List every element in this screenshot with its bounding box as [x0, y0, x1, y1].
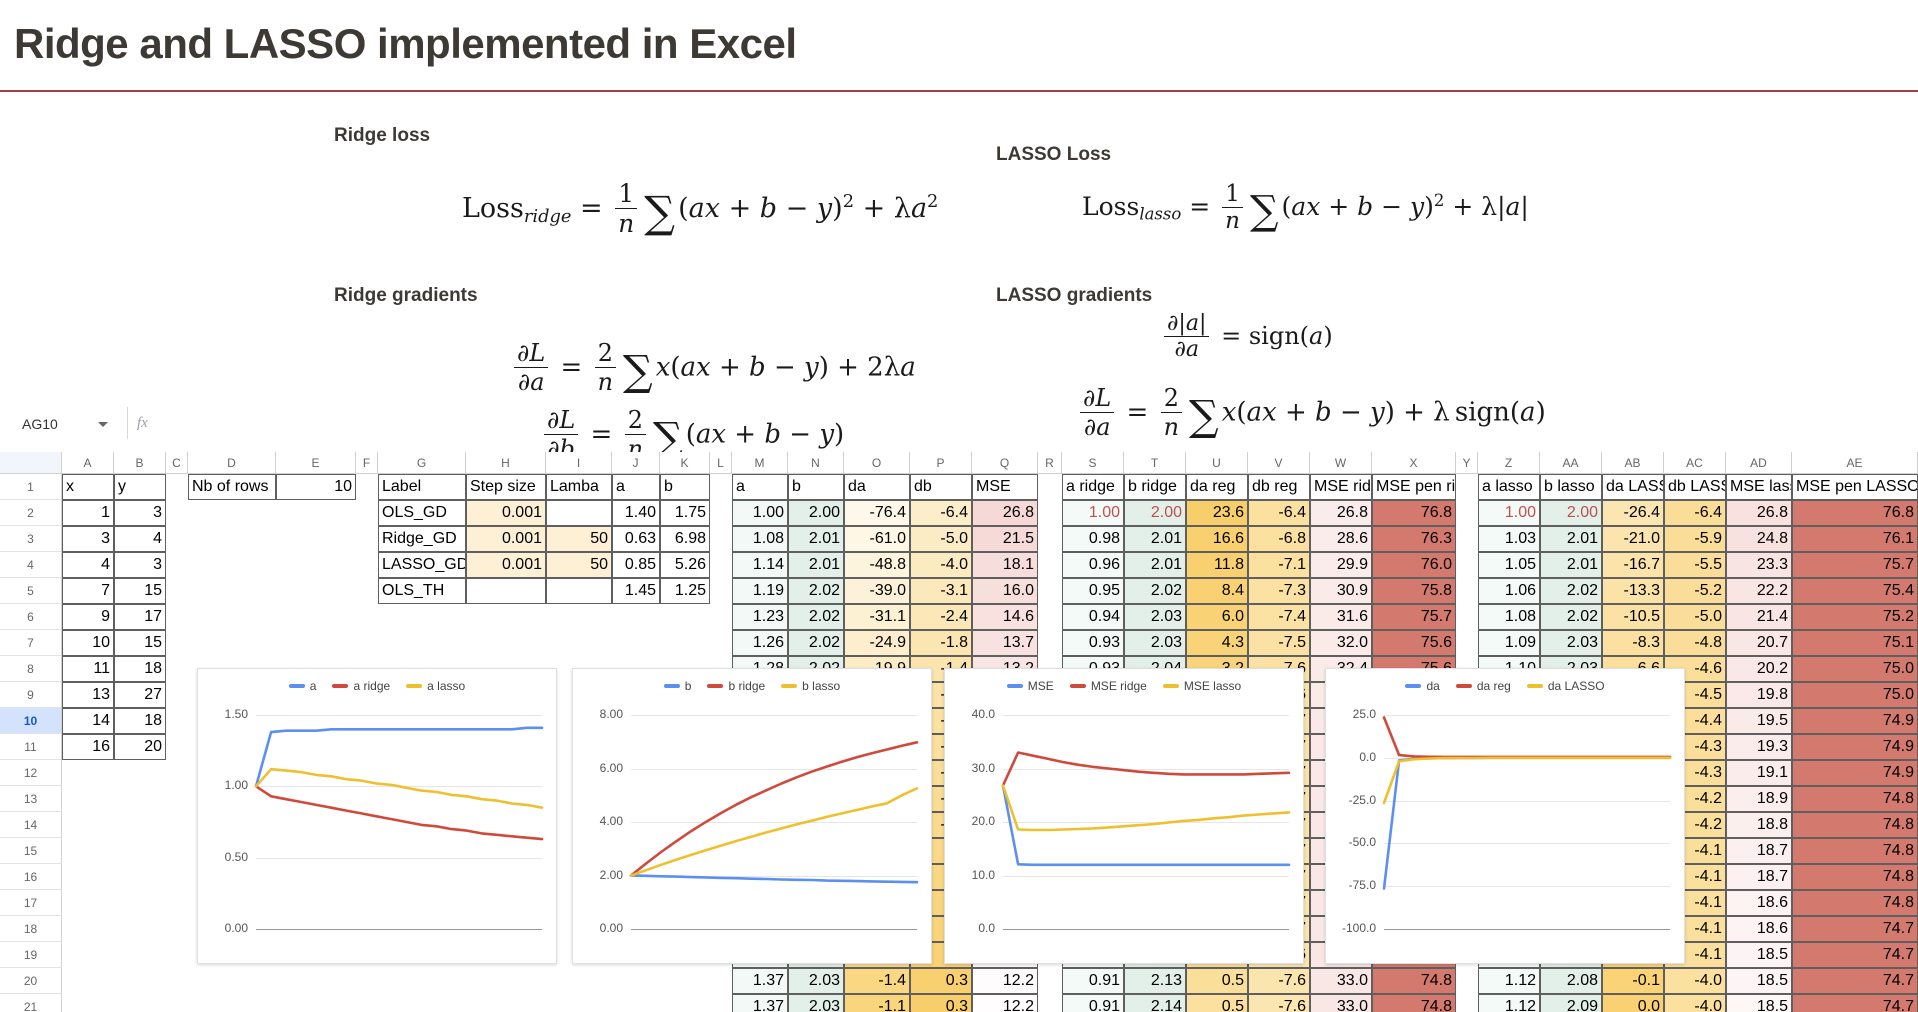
cell-M1[interactable]: a: [732, 474, 788, 500]
cell-T1[interactable]: b ridge: [1124, 474, 1186, 500]
cell-O2[interactable]: -76.4: [844, 500, 910, 526]
cell-AB6[interactable]: -10.5: [1602, 604, 1664, 630]
cell-H1[interactable]: Step size: [466, 474, 546, 500]
cell-W7[interactable]: 32.0: [1310, 630, 1372, 656]
column-header-b[interactable]: B: [114, 452, 166, 474]
row-header-6[interactable]: 6: [0, 604, 62, 630]
cell-X7[interactable]: 75.6: [1372, 630, 1456, 656]
row-header-14[interactable]: 14: [0, 812, 62, 838]
row-header-12[interactable]: 12: [0, 760, 62, 786]
cell-U20[interactable]: 0.5: [1186, 968, 1248, 994]
row-header-7[interactable]: 7: [0, 630, 62, 656]
cell-S20[interactable]: 0.91: [1062, 968, 1124, 994]
cell-AA3[interactable]: 2.01: [1540, 526, 1602, 552]
cell-B8[interactable]: 18: [114, 656, 166, 682]
cell-X3[interactable]: 76.3: [1372, 526, 1456, 552]
cell-E1[interactable]: 10: [276, 474, 356, 500]
cell-U3[interactable]: 16.6: [1186, 526, 1248, 552]
cell-AE9[interactable]: 75.0: [1792, 682, 1918, 708]
column-header-u[interactable]: U: [1186, 452, 1248, 474]
row-header-19[interactable]: 19: [0, 942, 62, 968]
cell-P6[interactable]: -2.4: [910, 604, 972, 630]
cell-W1[interactable]: MSE rid: [1310, 474, 1372, 500]
column-header-k[interactable]: K: [660, 452, 710, 474]
cell-A11[interactable]: 16: [62, 734, 114, 760]
column-header-x[interactable]: X: [1372, 452, 1456, 474]
cell-U21[interactable]: 0.5: [1186, 994, 1248, 1012]
cell-Z1[interactable]: a lasso: [1478, 474, 1540, 500]
cell-S21[interactable]: 0.91: [1062, 994, 1124, 1012]
cell-M3[interactable]: 1.08: [732, 526, 788, 552]
cell-O1[interactable]: da: [844, 474, 910, 500]
cell-H3[interactable]: 0.001: [466, 526, 546, 552]
cell-J2[interactable]: 1.40: [612, 500, 660, 526]
cell-AD15[interactable]: 18.7: [1726, 838, 1792, 864]
cell-AD7[interactable]: 20.7: [1726, 630, 1792, 656]
cell-X1[interactable]: MSE pen rid: [1372, 474, 1456, 500]
cell-S2[interactable]: 1.00: [1062, 500, 1124, 526]
cell-U5[interactable]: 8.4: [1186, 578, 1248, 604]
cell-N20[interactable]: 2.03: [788, 968, 844, 994]
cell-P5[interactable]: -3.1: [910, 578, 972, 604]
intercept-chart[interactable]: bb ridgeb lasso 0.002.004.006.008.00: [572, 668, 932, 964]
cell-AE20[interactable]: 74.7: [1792, 968, 1918, 994]
cell-V6[interactable]: -7.4: [1248, 604, 1310, 630]
cell-W6[interactable]: 31.6: [1310, 604, 1372, 630]
cell-G4[interactable]: LASSO_GD: [378, 552, 466, 578]
cell-M6[interactable]: 1.23: [732, 604, 788, 630]
cell-Q1[interactable]: MSE: [972, 474, 1038, 500]
cell-P4[interactable]: -4.0: [910, 552, 972, 578]
cell-AD1[interactable]: MSE lasso: [1726, 474, 1792, 500]
cell-AA6[interactable]: 2.02: [1540, 604, 1602, 630]
cell-V1[interactable]: db reg: [1248, 474, 1310, 500]
cell-S3[interactable]: 0.98: [1062, 526, 1124, 552]
cell-AD14[interactable]: 18.8: [1726, 812, 1792, 838]
column-header-y[interactable]: Y: [1456, 452, 1478, 474]
cell-P2[interactable]: -6.4: [910, 500, 972, 526]
cell-U2[interactable]: 23.6: [1186, 500, 1248, 526]
cell-Q3[interactable]: 21.5: [972, 526, 1038, 552]
cell-Q6[interactable]: 14.6: [972, 604, 1038, 630]
cell-AC7[interactable]: -4.8: [1664, 630, 1726, 656]
cell-AD4[interactable]: 23.3: [1726, 552, 1792, 578]
cell-A2[interactable]: 1: [62, 500, 114, 526]
legend-item: b ridge: [707, 679, 765, 693]
cell-AE1[interactable]: MSE pen LASSO: [1792, 474, 1918, 500]
row-header-17[interactable]: 17: [0, 890, 62, 916]
cell-B4[interactable]: 3: [114, 552, 166, 578]
cell-Q5[interactable]: 16.0: [972, 578, 1038, 604]
cell-M4[interactable]: 1.14: [732, 552, 788, 578]
cell-AD5[interactable]: 22.2: [1726, 578, 1792, 604]
cell-Q4[interactable]: 18.1: [972, 552, 1038, 578]
cell-AD21[interactable]: 18.5: [1726, 994, 1792, 1012]
mse-chart[interactable]: MSEMSE ridgeMSE lasso 0.010.020.030.040.…: [944, 668, 1304, 964]
cell-AE15[interactable]: 74.8: [1792, 838, 1918, 864]
row-header-4[interactable]: 4: [0, 552, 62, 578]
cell-AE14[interactable]: 74.8: [1792, 812, 1918, 838]
cell-V7[interactable]: -7.5: [1248, 630, 1310, 656]
column-header-ab[interactable]: AB: [1602, 452, 1664, 474]
cell-X21[interactable]: 74.8: [1372, 994, 1456, 1012]
cell-Z5[interactable]: 1.06: [1478, 578, 1540, 604]
row-header-8[interactable]: 8: [0, 656, 62, 682]
cell-T4[interactable]: 2.01: [1124, 552, 1186, 578]
cell-K5[interactable]: 1.25: [660, 578, 710, 604]
column-header-s[interactable]: S: [1062, 452, 1124, 474]
cell-Z7[interactable]: 1.09: [1478, 630, 1540, 656]
cell-A4[interactable]: 4: [62, 552, 114, 578]
cell-X5[interactable]: 75.8: [1372, 578, 1456, 604]
cell-K1[interactable]: b: [660, 474, 710, 500]
column-header-c[interactable]: C: [166, 452, 188, 474]
cell-O6[interactable]: -31.1: [844, 604, 910, 630]
cell-AE21[interactable]: 74.7: [1792, 994, 1918, 1012]
cell-AA20[interactable]: 2.08: [1540, 968, 1602, 994]
cell-O5[interactable]: -39.0: [844, 578, 910, 604]
cell-Z4[interactable]: 1.05: [1478, 552, 1540, 578]
cell-M20[interactable]: 1.37: [732, 968, 788, 994]
cell-AD2[interactable]: 26.8: [1726, 500, 1792, 526]
cell-AA21[interactable]: 2.09: [1540, 994, 1602, 1012]
cell-N6[interactable]: 2.02: [788, 604, 844, 630]
cell-T5[interactable]: 2.02: [1124, 578, 1186, 604]
cell-B11[interactable]: 20: [114, 734, 166, 760]
cell-G5[interactable]: OLS_TH: [378, 578, 466, 604]
name-box[interactable]: AG10: [18, 412, 114, 436]
cell-AE7[interactable]: 75.1: [1792, 630, 1918, 656]
row-header-10[interactable]: 10: [0, 708, 62, 734]
cell-AB7[interactable]: -8.3: [1602, 630, 1664, 656]
cell-AD12[interactable]: 19.1: [1726, 760, 1792, 786]
cell-AB21[interactable]: 0.0: [1602, 994, 1664, 1012]
row-header-16[interactable]: 16: [0, 864, 62, 890]
cell-O20[interactable]: -1.4: [844, 968, 910, 994]
cell-N1[interactable]: b: [788, 474, 844, 500]
cell-O3[interactable]: -61.0: [844, 526, 910, 552]
cell-N3[interactable]: 2.01: [788, 526, 844, 552]
cell-K3[interactable]: 6.98: [660, 526, 710, 552]
cell-AE11[interactable]: 74.9: [1792, 734, 1918, 760]
row-header-2[interactable]: 2: [0, 500, 62, 526]
cell-I2[interactable]: [546, 500, 612, 526]
column-header-w[interactable]: W: [1310, 452, 1372, 474]
cell-AD17[interactable]: 18.6: [1726, 890, 1792, 916]
cell-A3[interactable]: 3: [62, 526, 114, 552]
cell-P1[interactable]: db: [910, 474, 972, 500]
cell-J5[interactable]: 1.45: [612, 578, 660, 604]
row-header-15[interactable]: 15: [0, 838, 62, 864]
cell-V20[interactable]: -7.6: [1248, 968, 1310, 994]
cell-A5[interactable]: 7: [62, 578, 114, 604]
cell-H2[interactable]: 0.001: [466, 500, 546, 526]
cell-S6[interactable]: 0.94: [1062, 604, 1124, 630]
column-header-q[interactable]: Q: [972, 452, 1038, 474]
select-all-corner[interactable]: [0, 452, 62, 474]
cell-S4[interactable]: 0.96: [1062, 552, 1124, 578]
chart-legend: MSEMSE ridgeMSE lasso: [945, 679, 1303, 693]
cell-N5[interactable]: 2.02: [788, 578, 844, 604]
cell-N21[interactable]: 2.03: [788, 994, 844, 1012]
cell-AC5[interactable]: -5.2: [1664, 578, 1726, 604]
cell-G3[interactable]: Ridge_GD: [378, 526, 466, 552]
cell-AD11[interactable]: 19.3: [1726, 734, 1792, 760]
column-header-j[interactable]: J: [612, 452, 660, 474]
cell-AE18[interactable]: 74.7: [1792, 916, 1918, 942]
cell-M7[interactable]: 1.26: [732, 630, 788, 656]
cell-T6[interactable]: 2.03: [1124, 604, 1186, 630]
cell-AE4[interactable]: 75.7: [1792, 552, 1918, 578]
cell-AB3[interactable]: -21.0: [1602, 526, 1664, 552]
column-header-f[interactable]: F: [356, 452, 378, 474]
cell-AD16[interactable]: 18.7: [1726, 864, 1792, 890]
column-header-e[interactable]: E: [276, 452, 356, 474]
cell-T21[interactable]: 2.14: [1124, 994, 1186, 1012]
cell-Q20[interactable]: 12.2: [972, 968, 1038, 994]
cell-X6[interactable]: 75.7: [1372, 604, 1456, 630]
cell-S7[interactable]: 0.93: [1062, 630, 1124, 656]
cell-Q21[interactable]: 12.2: [972, 994, 1038, 1012]
cell-AE8[interactable]: 75.0: [1792, 656, 1918, 682]
cell-M21[interactable]: 1.37: [732, 994, 788, 1012]
cell-AC4[interactable]: -5.5: [1664, 552, 1726, 578]
row-header-5[interactable]: 5: [0, 578, 62, 604]
cell-AB5[interactable]: -13.3: [1602, 578, 1664, 604]
column-header-aa[interactable]: AA: [1540, 452, 1602, 474]
cell-AA4[interactable]: 2.01: [1540, 552, 1602, 578]
gradient-chart[interactable]: dada regda LASSO -100.0-75.0-50.0-25.00.…: [1325, 668, 1685, 964]
cell-X20[interactable]: 74.8: [1372, 968, 1456, 994]
cell-A7[interactable]: 10: [62, 630, 114, 656]
cell-AD18[interactable]: 18.6: [1726, 916, 1792, 942]
column-header-l[interactable]: L: [710, 452, 732, 474]
cell-AC2[interactable]: -6.4: [1664, 500, 1726, 526]
cell-I5[interactable]: [546, 578, 612, 604]
cell-J3[interactable]: 0.63: [612, 526, 660, 552]
chevron-down-icon[interactable]: [98, 422, 108, 427]
cell-T2[interactable]: 2.00: [1124, 500, 1186, 526]
cell-J4[interactable]: 0.85: [612, 552, 660, 578]
cell-B9[interactable]: 27: [114, 682, 166, 708]
cell-AE2[interactable]: 76.8: [1792, 500, 1918, 526]
cell-AA1[interactable]: b lasso: [1540, 474, 1602, 500]
cell-B5[interactable]: 15: [114, 578, 166, 604]
lasso-loss-formula: Losslasso = 1n∑(ax + b − y)2 + λ|a|: [1082, 182, 1529, 235]
cell-AB4[interactable]: -16.7: [1602, 552, 1664, 578]
cell-P3[interactable]: -5.0: [910, 526, 972, 552]
cell-Z21[interactable]: 1.12: [1478, 994, 1540, 1012]
cell-AD3[interactable]: 24.8: [1726, 526, 1792, 552]
lasso-gradient-a-formula: ∂L∂a = 2n∑x(ax + b − y) + λ sign(a): [1076, 385, 1546, 442]
cell-M2[interactable]: 1.00: [732, 500, 788, 526]
cell-AA5[interactable]: 2.02: [1540, 578, 1602, 604]
row-header-21[interactable]: 21: [0, 994, 62, 1012]
legend-item: b: [664, 679, 692, 693]
cell-B10[interactable]: 18: [114, 708, 166, 734]
cell-AD20[interactable]: 18.5: [1726, 968, 1792, 994]
cell-AD19[interactable]: 18.5: [1726, 942, 1792, 968]
cell-N2[interactable]: 2.00: [788, 500, 844, 526]
cell-V5[interactable]: -7.3: [1248, 578, 1310, 604]
cell-A10[interactable]: 14: [62, 708, 114, 734]
cell-W5[interactable]: 30.9: [1310, 578, 1372, 604]
cell-A1[interactable]: x: [62, 474, 114, 500]
cell-P7[interactable]: -1.8: [910, 630, 972, 656]
column-header-i[interactable]: I: [546, 452, 612, 474]
cell-AE6[interactable]: 75.2: [1792, 604, 1918, 630]
cell-AC21[interactable]: -4.0: [1664, 994, 1726, 1012]
column-header-m[interactable]: M: [732, 452, 788, 474]
cell-B6[interactable]: 17: [114, 604, 166, 630]
cell-Q7[interactable]: 13.7: [972, 630, 1038, 656]
cell-W21[interactable]: 33.0: [1310, 994, 1372, 1012]
cell-V21[interactable]: -7.6: [1248, 994, 1310, 1012]
column-header-o[interactable]: O: [844, 452, 910, 474]
cell-S5[interactable]: 0.95: [1062, 578, 1124, 604]
cell-A8[interactable]: 11: [62, 656, 114, 682]
cell-AC1[interactable]: db LASSO: [1664, 474, 1726, 500]
cell-AD6[interactable]: 21.4: [1726, 604, 1792, 630]
cell-O4[interactable]: -48.8: [844, 552, 910, 578]
cell-T20[interactable]: 2.13: [1124, 968, 1186, 994]
cell-V3[interactable]: -6.8: [1248, 526, 1310, 552]
column-header-ad[interactable]: AD: [1726, 452, 1792, 474]
cell-V2[interactable]: -6.4: [1248, 500, 1310, 526]
column-header-g[interactable]: G: [378, 452, 466, 474]
cell-U6[interactable]: 6.0: [1186, 604, 1248, 630]
cell-Q2[interactable]: 26.8: [972, 500, 1038, 526]
cell-W2[interactable]: 26.8: [1310, 500, 1372, 526]
cell-Z20[interactable]: 1.12: [1478, 968, 1540, 994]
cell-Z3[interactable]: 1.03: [1478, 526, 1540, 552]
cell-H4[interactable]: 0.001: [466, 552, 546, 578]
cell-AE5[interactable]: 75.4: [1792, 578, 1918, 604]
cell-Z6[interactable]: 1.08: [1478, 604, 1540, 630]
cell-N7[interactable]: 2.02: [788, 630, 844, 656]
cell-I3[interactable]: 50: [546, 526, 612, 552]
row-header-13[interactable]: 13: [0, 786, 62, 812]
cell-X4[interactable]: 76.0: [1372, 552, 1456, 578]
cell-AA2[interactable]: 2.00: [1540, 500, 1602, 526]
cell-P20[interactable]: 0.3: [910, 968, 972, 994]
cell-I1[interactable]: Lamba: [546, 474, 612, 500]
cell-W4[interactable]: 29.9: [1310, 552, 1372, 578]
cell-AE10[interactable]: 74.9: [1792, 708, 1918, 734]
column-header-ae[interactable]: AE: [1792, 452, 1918, 474]
cell-G1[interactable]: Label: [378, 474, 466, 500]
cell-T3[interactable]: 2.01: [1124, 526, 1186, 552]
function-icon[interactable]: fx: [137, 415, 148, 432]
cell-AB2[interactable]: -26.4: [1602, 500, 1664, 526]
column-header-ac[interactable]: AC: [1664, 452, 1726, 474]
cell-D1[interactable]: Nb of rows: [188, 474, 276, 500]
legend-swatch-icon: [1527, 684, 1543, 688]
cell-AE19[interactable]: 74.7: [1792, 942, 1918, 968]
cell-A9[interactable]: 13: [62, 682, 114, 708]
cell-K2[interactable]: 1.75: [660, 500, 710, 526]
cell-X2[interactable]: 76.8: [1372, 500, 1456, 526]
cell-U1[interactable]: da reg: [1186, 474, 1248, 500]
cell-B2[interactable]: 3: [114, 500, 166, 526]
column-header-z[interactable]: Z: [1478, 452, 1540, 474]
cell-AD9[interactable]: 19.8: [1726, 682, 1792, 708]
column-header-h[interactable]: H: [466, 452, 546, 474]
cell-B1[interactable]: y: [114, 474, 166, 500]
cell-U7[interactable]: 4.3: [1186, 630, 1248, 656]
cell-P21[interactable]: 0.3: [910, 994, 972, 1012]
column-header-r[interactable]: R: [1038, 452, 1062, 474]
legend-label: a: [310, 679, 317, 693]
cell-W20[interactable]: 33.0: [1310, 968, 1372, 994]
cell-AE3[interactable]: 76.1: [1792, 526, 1918, 552]
cell-W3[interactable]: 28.6: [1310, 526, 1372, 552]
cell-J1[interactable]: a: [612, 474, 660, 500]
column-header-d[interactable]: D: [188, 452, 276, 474]
legend-swatch-icon: [664, 684, 680, 688]
slope-chart[interactable]: aa ridgea lasso 0.000.501.001.50: [197, 668, 557, 964]
row-header-column[interactable]: 123456789101112131415161718192021: [0, 474, 62, 1012]
column-header-p[interactable]: P: [910, 452, 972, 474]
column-header-n[interactable]: N: [788, 452, 844, 474]
legend-swatch-icon: [1163, 684, 1179, 688]
cell-N4[interactable]: 2.01: [788, 552, 844, 578]
cell-S1[interactable]: a ridge: [1062, 474, 1124, 500]
ridge-gradients-label: Ridge gradients: [334, 285, 478, 307]
cell-Z2[interactable]: 1.00: [1478, 500, 1540, 526]
cell-AC20[interactable]: -4.0: [1664, 968, 1726, 994]
cell-B3[interactable]: 4: [114, 526, 166, 552]
legend-label: a ridge: [353, 679, 390, 693]
cell-AB20[interactable]: -0.1: [1602, 968, 1664, 994]
column-header-a[interactable]: A: [62, 452, 114, 474]
cell-AC3[interactable]: -5.9: [1664, 526, 1726, 552]
cell-O7[interactable]: -24.9: [844, 630, 910, 656]
cell-B7[interactable]: 15: [114, 630, 166, 656]
cell-O21[interactable]: -1.1: [844, 994, 910, 1012]
cell-I4[interactable]: 50: [546, 552, 612, 578]
cell-K4[interactable]: 5.26: [660, 552, 710, 578]
row-header-11[interactable]: 11: [0, 734, 62, 760]
legend-label: da: [1426, 679, 1439, 693]
cell-V4[interactable]: -7.1: [1248, 552, 1310, 578]
row-header-18[interactable]: 18: [0, 916, 62, 942]
legend-label: b: [685, 679, 692, 693]
cell-AD8[interactable]: 20.2: [1726, 656, 1792, 682]
cell-U4[interactable]: 11.8: [1186, 552, 1248, 578]
cell-AB1[interactable]: da LASSO: [1602, 474, 1664, 500]
cell-M5[interactable]: 1.19: [732, 578, 788, 604]
row-header-20[interactable]: 20: [0, 968, 62, 994]
cell-AA7[interactable]: 2.03: [1540, 630, 1602, 656]
column-header-v[interactable]: V: [1248, 452, 1310, 474]
cell-AE16[interactable]: 74.8: [1792, 864, 1918, 890]
column-header-t[interactable]: T: [1124, 452, 1186, 474]
cell-AD13[interactable]: 18.9: [1726, 786, 1792, 812]
row-header-3[interactable]: 3: [0, 526, 62, 552]
cell-AD10[interactable]: 19.5: [1726, 708, 1792, 734]
cell-AC6[interactable]: -5.0: [1664, 604, 1726, 630]
cell-AE12[interactable]: 74.9: [1792, 760, 1918, 786]
cell-G2[interactable]: OLS_GD: [378, 500, 466, 526]
row-header-9[interactable]: 9: [0, 682, 62, 708]
cell-AE13[interactable]: 74.8: [1792, 786, 1918, 812]
cell-A6[interactable]: 9: [62, 604, 114, 630]
cell-H5[interactable]: [466, 578, 546, 604]
cell-T7[interactable]: 2.03: [1124, 630, 1186, 656]
cell-AE17[interactable]: 74.8: [1792, 890, 1918, 916]
row-header-1[interactable]: 1: [0, 474, 62, 500]
